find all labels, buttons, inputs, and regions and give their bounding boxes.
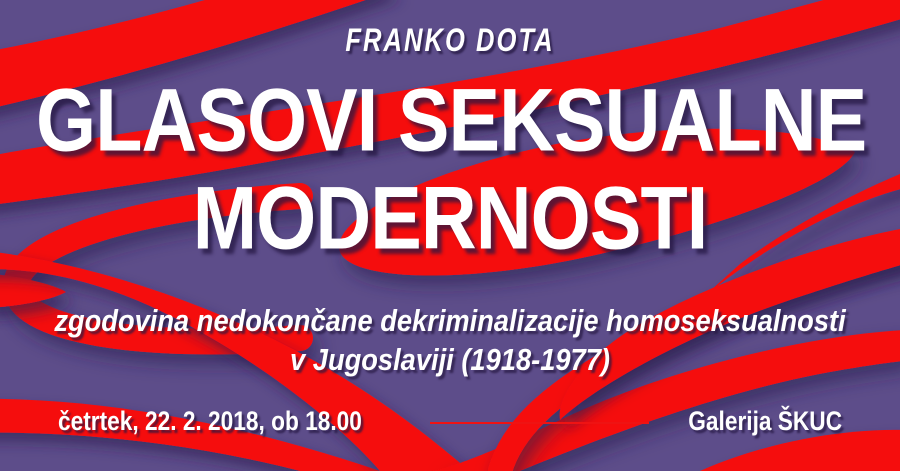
footer-divider-rule	[430, 422, 649, 424]
poster-content: FRANKO DOTA GLASOVI SEKSUALNE MODERNOSTI…	[0, 0, 900, 471]
subtitle-line-2: v Jugoslaviji (1918-1977)	[54, 342, 846, 378]
event-poster: FRANKO DOTA GLASOVI SEKSUALNE MODERNOSTI…	[0, 0, 900, 471]
title-line-2: MODERNOSTI	[36, 173, 864, 262]
poster-footer: četrtek, 22. 2. 2018, ob 18.00 Galerija …	[58, 404, 842, 438]
event-datetime: četrtek, 22. 2. 2018, ob 18.00	[58, 406, 362, 437]
event-venue: Galerija ŠKUC	[688, 406, 842, 437]
subtitle-line-1: zgodovina nedokončane dekriminalizacije …	[54, 303, 846, 339]
author-name: FRANKO DOTA	[90, 22, 810, 59]
title-line-1: GLASOVI SEKSUALNE	[36, 75, 864, 164]
